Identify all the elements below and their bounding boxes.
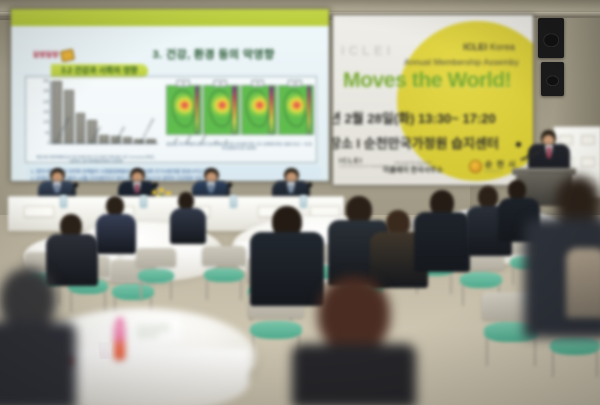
conference-room-photo: 달랑달랑 3. 건강, 환경 등의 악영향 3.2 건강과 사회의 영향 300… [0, 0, 600, 405]
pink-water-bottle [114, 322, 125, 360]
flower-bloom [159, 188, 164, 193]
korea-dispersion-maps: 1월4월7월10월 [166, 80, 312, 142]
korea-map-cell: 7월 [241, 80, 275, 142]
korea-map-month-label: 4월 [214, 80, 227, 87]
banner-event-subtitle: Annual Membership Assemby [404, 57, 519, 67]
slide-logo-label: 달랑달랑 [32, 50, 59, 60]
slide-title: 3. 건강, 환경 등의 악영향 [106, 46, 321, 62]
water-bottle [230, 195, 237, 208]
attendee-head [318, 276, 390, 352]
korea-map-colorbar [269, 86, 274, 134]
attendee-head [106, 196, 124, 216]
attendee-body [250, 232, 324, 306]
water-bottle [300, 195, 307, 208]
korea-map-colorbar [195, 86, 200, 134]
chair-seat [112, 284, 154, 300]
slide-bullet-list: 1. 발전사와 시민의 의지와 관계없이 오염물질배출로 인해 국내외 조기사망… [27, 166, 321, 182]
iclei-korea-office-logo: 지속가능성을 위한 세계지방정부 이클레이 한국사무소 [383, 161, 443, 175]
banner-venue: 장소 I 순천만국가정원 습지센터 [332, 133, 534, 152]
chair-seat [460, 272, 502, 288]
chair-leg [462, 284, 464, 306]
left-projection-screen: 달랑달랑 3. 건강, 환경 등의 악영향 3.2 건강과 사회의 영향 300… [10, 8, 330, 182]
panelist-tie [135, 184, 139, 193]
chair-leg [240, 280, 242, 300]
water-bottle [140, 195, 147, 208]
slide-bullet: 2. [바람이 잘부는 4월과 10월] 초미세먼지가 멀리 이동하며 저농도의… [31, 175, 317, 182]
iclei-logo: ICLEI Local Governments for Sustainabili… [339, 158, 388, 168]
panelist-tie [289, 184, 293, 193]
korea-map-month-label: 1월 [177, 80, 190, 87]
chair-leg [70, 291, 72, 312]
attendee-body [46, 234, 98, 286]
chart-caption: 발전소별 석탄화력발전소로 인한 국내외 연간 조기사망자 추정치(명) 출처:… [36, 156, 156, 164]
korea-map-cell: 10월 [278, 80, 312, 142]
table-handout [131, 318, 180, 343]
chair-back [202, 246, 246, 266]
podium-microphone-icon [516, 142, 521, 147]
attendee-head [0, 268, 56, 330]
suncheon-city-logo: 순 천 시 Suncheon-si [469, 159, 517, 173]
chair-seat [250, 321, 302, 340]
banner-logo-row: ICLEI Local Governments for Sustainabili… [337, 157, 529, 181]
handout-line [136, 329, 170, 333]
water-bottle [60, 195, 67, 208]
attendee-head [478, 186, 498, 208]
suncheon-emblem-icon [469, 160, 482, 173]
speaker-tie [547, 147, 551, 158]
korea-map-colorbar [232, 86, 237, 134]
panelist-tie [55, 184, 59, 193]
chair-seat [204, 268, 244, 282]
panelist-tie [209, 184, 213, 193]
attendee-body [96, 214, 136, 254]
paper-cup [98, 342, 112, 359]
whiteboard-note [581, 135, 595, 145]
banner-org-bold: ICLEI [463, 42, 487, 52]
flower-bloom [152, 190, 157, 195]
attendee-body [292, 344, 416, 405]
fur-coat [566, 248, 600, 318]
chart-y-label: 250 [43, 89, 49, 93]
handout-line [136, 324, 170, 328]
attendee-body [414, 212, 470, 272]
chart-y-label: 50 [45, 131, 49, 135]
chart-y-label: 0 [47, 141, 49, 145]
korea-map-month-label: 7월 [251, 80, 264, 87]
chair-leg [486, 338, 488, 366]
chair-back [136, 248, 176, 267]
slide-body: 달랑달랑 3. 건강, 환경 등의 악영향 3.2 건강과 사회의 영향 300… [11, 26, 329, 181]
attendee-body [0, 322, 76, 405]
attendee-body [170, 208, 206, 244]
chair-seat [138, 269, 174, 283]
chair-leg [58, 284, 60, 303]
korea-map-colorbar [307, 86, 312, 134]
wall-speaker-lower [541, 62, 564, 96]
chair-leg [512, 267, 514, 285]
chair-leg [552, 351, 554, 377]
iclei-logo-subtext: Local Governments for Sustainability [339, 165, 388, 168]
chair-seat [550, 337, 600, 356]
bar-chart: 300250200150100500 당진 1-10호기 한국동서발전태안 한국… [32, 81, 160, 159]
chair-leg [534, 338, 536, 366]
slide-bullet: 1. 발전사와 시민의 의지와 관계없이 오염물질배출로 인해 국내외 조기사망… [31, 168, 317, 175]
chair-leg [140, 280, 142, 299]
maps-caption: 충청남도 지역 화력발전소별 대기오염 물질확산에 의한 초미세먼지 확산 출처… [166, 143, 312, 151]
banner-headline: Moves the World! [343, 69, 531, 93]
chart-y-axis [50, 81, 51, 143]
banner-org-rest: Korea [487, 42, 515, 52]
korea-office-name: 이클레이 한국사무소 [383, 165, 443, 175]
attendee-head [508, 180, 526, 200]
chair-leg [596, 351, 598, 377]
handout-line [136, 335, 158, 338]
korea-map-cell: 4월 [203, 80, 237, 142]
chart-y-label: 150 [43, 110, 49, 114]
slide-top-band [11, 9, 329, 26]
iclei-logo-text: ICLEI [339, 158, 363, 165]
banner-organization: ICLEI Korea [463, 42, 515, 52]
slide-logo: 달랑달랑 [33, 46, 95, 64]
chart-y-label: 300 [43, 79, 49, 83]
slide-content-panel: 300250200150100500 당진 1-10호기 한국동서발전태안 한국… [25, 76, 317, 163]
banner-date: 년 2월 28일(화) 13:30~ 17:20 [332, 108, 534, 127]
korea-map-month-label: 10월 [288, 80, 302, 87]
chair-leg [206, 280, 208, 300]
iclei-banner: ICLEI ICLEI Korea Annual Membership Asse… [332, 14, 534, 186]
banner-ghost-wordmark: ICLEI [341, 43, 394, 58]
chair-leg [170, 280, 172, 299]
whiteboard-note [581, 157, 595, 167]
chart-y-label: 200 [43, 100, 49, 104]
chair-leg [450, 274, 452, 294]
chart-y-label: 100 [43, 120, 49, 124]
slide-logo-mark-icon [60, 48, 75, 61]
name-card [24, 206, 54, 217]
wall-speaker-upper [538, 18, 564, 58]
chair-leg [104, 291, 106, 312]
korea-map-cell: 1월 [166, 80, 200, 142]
